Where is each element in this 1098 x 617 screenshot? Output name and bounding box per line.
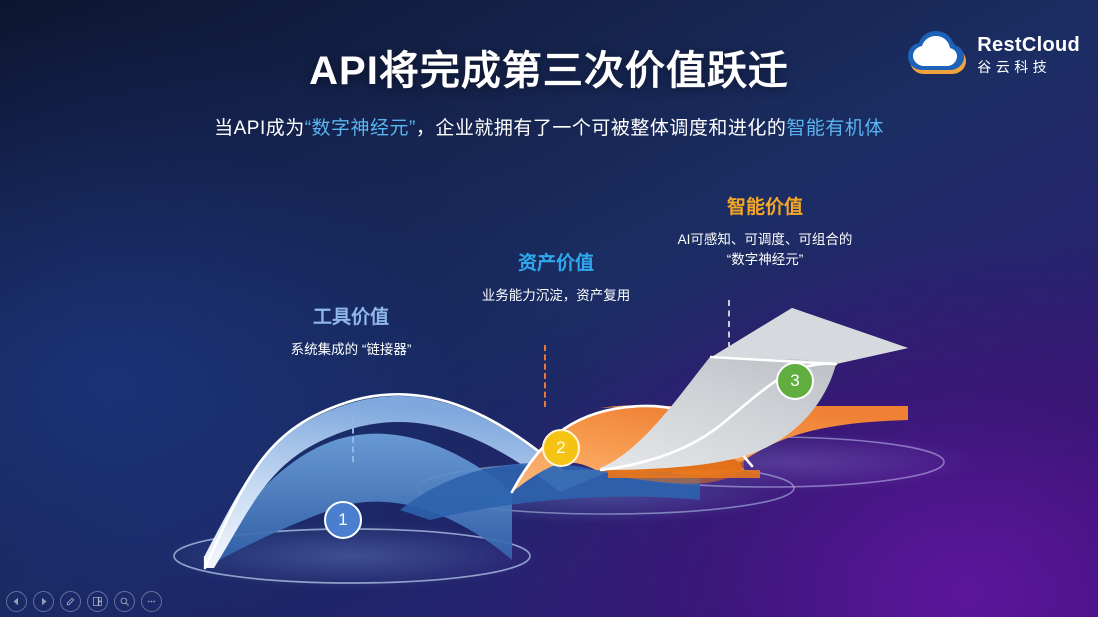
- stage-title-1: 工具价值: [246, 302, 456, 329]
- subtitle-part-2: ，企业就拥有了一个可被整体调度和进化的: [416, 118, 787, 139]
- brand-logo: RestCloud 谷云科技: [906, 26, 1080, 82]
- stage-desc-1: 系统集成的 “链接器”: [246, 340, 456, 360]
- stage-badge-1: 1: [324, 501, 362, 539]
- zoom-tool-icon[interactable]: [114, 591, 135, 612]
- previous-slide-icon[interactable]: [6, 591, 27, 612]
- stage-title-2: 资产价值: [440, 248, 672, 275]
- page-subtitle: 当API成为“数字神经元”，企业就拥有了一个可被整体调度和进化的智能有机体: [0, 113, 1098, 140]
- logo-subname: 谷云科技: [977, 60, 1080, 74]
- stage-label-3: 智能价值 AI可感知、可调度、可组合的 “数字神经元”: [640, 192, 890, 271]
- pen-tool-icon[interactable]: [60, 591, 81, 612]
- stage-title-3: 智能价值: [640, 192, 890, 219]
- slide-toolbar: [6, 591, 162, 612]
- layout-view-icon[interactable]: [87, 591, 108, 612]
- stage-desc-2: 业务能力沉淀，资产复用: [440, 286, 672, 306]
- stage-desc-3-line2: “数字神经元”: [640, 250, 890, 270]
- presentation-slide: API将完成第三次价值跃迁 当API成为“数字神经元”，企业就拥有了一个可被整体…: [0, 0, 1098, 617]
- leader-line-stage-3: [728, 300, 730, 348]
- leader-line-stage-1: [352, 418, 354, 462]
- logo-text: RestCloud 谷云科技: [977, 35, 1080, 74]
- subtitle-part-1: 当API成为: [214, 118, 305, 139]
- logo-name: RestCloud: [977, 35, 1080, 55]
- subtitle-highlight-2: 智能有机体: [786, 118, 884, 139]
- stage-label-1: 工具价值 系统集成的 “链接器”: [246, 302, 456, 360]
- cloud-icon: [906, 30, 968, 78]
- stage-badge-3: 3: [776, 362, 814, 400]
- stage-desc-3-line1: AI可感知、可调度、可组合的: [640, 230, 890, 250]
- stage-label-2: 资产价值 业务能力沉淀，资产复用: [440, 248, 672, 306]
- stage-badge-2: 2: [542, 429, 580, 467]
- leader-line-stage-2: [544, 345, 546, 407]
- more-options-icon[interactable]: [141, 591, 162, 612]
- subtitle-highlight-1: “数字神经元”: [305, 118, 416, 139]
- next-slide-icon[interactable]: [33, 591, 54, 612]
